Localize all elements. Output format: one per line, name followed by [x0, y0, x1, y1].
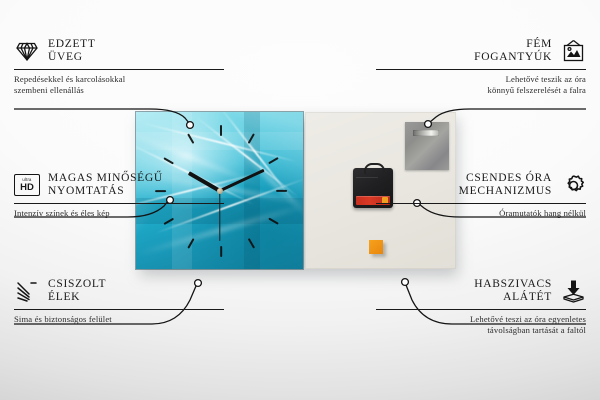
hour-tick: [187, 238, 194, 249]
feature-tempered-glass[interactable]: EDZETTÜVEG Repedésekkel és karcolásokkal…: [14, 38, 224, 95]
feature-header: FÉMFOGANTYÚK: [376, 38, 586, 64]
feature-divider: [376, 203, 586, 204]
feature-description: Intenzív színek és éles kép: [14, 208, 224, 218]
feature-header: EDZETTÜVEG: [14, 38, 224, 64]
feature-polished-edges[interactable]: CSISZOLTÉLEK Sima és biztonságos felület: [14, 278, 224, 325]
metal-hanger-plate: [405, 122, 449, 170]
hour-tick: [247, 133, 254, 144]
feature-description: Repedésekkel és karcolásokkalszembeni el…: [14, 74, 224, 95]
feature-header: CSENDES ÓRAMECHANIZMUS: [376, 172, 586, 198]
hour-tick: [220, 246, 222, 257]
feature-header: HABSZIVACSALÁTÉT: [376, 278, 586, 304]
feature-foam-pad[interactable]: HABSZIVACSALÁTÉT Lehetővé teszi az óra e…: [376, 278, 586, 335]
infographic-canvas: EDZETTÜVEG Repedésekkel és karcolásokkal…: [0, 0, 600, 400]
foam-spacer-pad: [369, 240, 383, 254]
hour-tick: [220, 125, 222, 136]
ultra-hd-box: ultra HD: [14, 174, 40, 196]
feature-title: HABSZIVACSALÁTÉT: [474, 278, 552, 304]
hour-tick: [268, 217, 279, 224]
hour-tick: [268, 157, 279, 164]
diamond-icon: [14, 38, 40, 64]
feature-divider: [14, 69, 224, 70]
feature-header: ultra HD MAGAS MINŐSÉGŰNYOMTATÁS: [14, 172, 224, 198]
feature-description: Óramutatók hang nélkül: [376, 208, 586, 218]
feature-silent-mechanism[interactable]: CSENDES ÓRAMECHANIZMUS Óramutatók hang n…: [376, 172, 586, 219]
feature-title: EDZETTÜVEG: [48, 38, 96, 64]
hour-tick: [276, 189, 287, 191]
gear-icon: [560, 172, 586, 198]
hour-tick: [247, 238, 254, 249]
feature-title: CSISZOLTÉLEK: [48, 278, 106, 304]
feature-title: FÉMFOGANTYÚK: [474, 38, 552, 64]
feature-divider: [14, 203, 224, 204]
polished-edges-icon: [14, 278, 40, 304]
feature-title: CSENDES ÓRAMECHANIZMUS: [459, 172, 552, 198]
feature-header: CSISZOLTÉLEK: [14, 278, 224, 304]
feature-description: Sima és biztonságos felület: [14, 314, 224, 324]
feature-divider: [376, 69, 586, 70]
feature-divider: [376, 309, 586, 310]
mechanism-seam: [356, 177, 378, 178]
feature-title: MAGAS MINŐSÉGŰNYOMTATÁS: [48, 172, 163, 198]
foam-pad-arrow-icon: [560, 278, 586, 304]
hour-tick: [163, 157, 174, 164]
ultra-hd-icon: ultra HD: [14, 172, 40, 198]
ultra-hd-bottom-label: HD: [20, 183, 34, 193]
feature-high-quality-print[interactable]: ultra HD MAGAS MINŐSÉGŰNYOMTATÁS Intenzí…: [14, 172, 224, 219]
minute-hand: [219, 168, 265, 192]
hour-tick: [187, 133, 194, 144]
feature-description: Lehetővé teszi az óra egyenletestávolság…: [376, 314, 586, 335]
feature-description: Lehetővé teszik az órakönnyű felszerelés…: [376, 74, 586, 95]
feature-metal-handles[interactable]: FÉMFOGANTYÚK Lehetővé teszik az órakönny…: [376, 38, 586, 95]
wall-mount-frame-icon: [560, 38, 586, 64]
feature-divider: [14, 309, 224, 310]
